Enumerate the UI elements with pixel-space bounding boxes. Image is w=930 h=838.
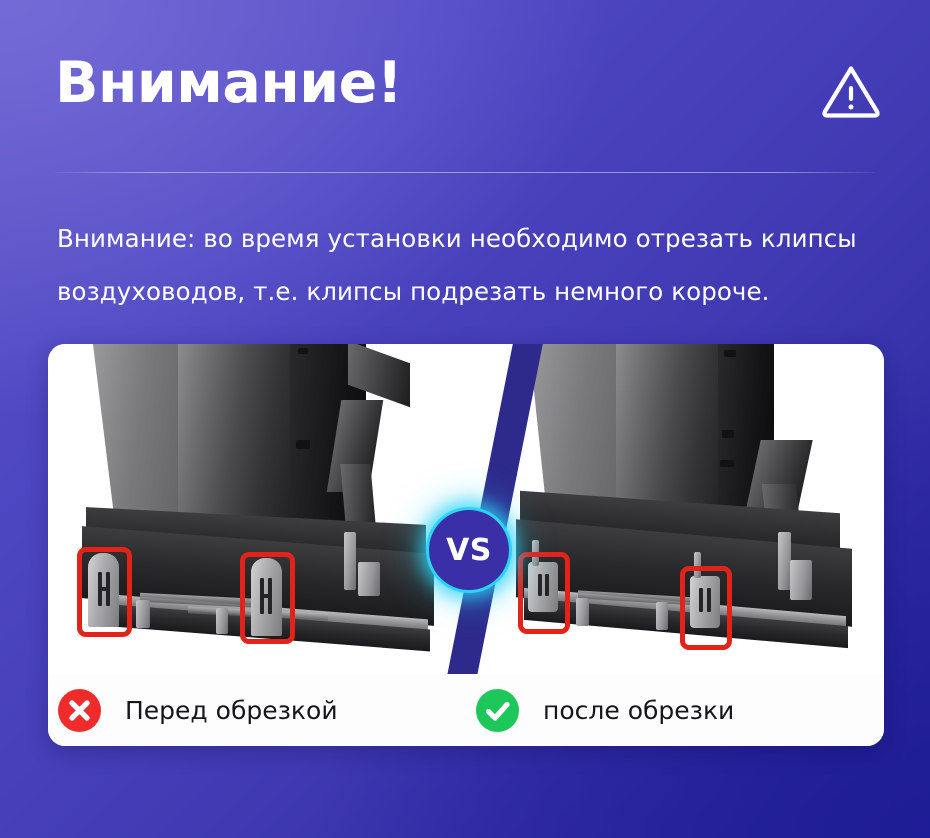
page-title: Внимание! xyxy=(55,55,402,112)
highlight-box-clip-right xyxy=(240,552,295,644)
label-before-trimming: Перед обрезкой xyxy=(48,674,466,746)
label-after-trimming: после обрезки xyxy=(466,674,884,746)
notice-line-2: воздуховодов, т.е. клипсы подрезать немн… xyxy=(57,265,897,318)
notice-text: Внимание: во время установки необходимо … xyxy=(57,212,897,318)
highlight-box-clip-left xyxy=(77,547,132,637)
highlight-box-clip-right-trimmed xyxy=(680,566,732,650)
header-divider xyxy=(55,172,875,173)
promo-banner: Внимание! Внимание: во время установки н… xyxy=(0,0,930,838)
label-before-text: Перед обрезкой xyxy=(125,696,338,725)
check-circle-icon xyxy=(476,689,519,732)
photo-before-trimming xyxy=(48,344,466,674)
cross-circle-icon xyxy=(58,689,101,732)
label-row: Перед обрезкой после обрезки xyxy=(48,674,884,746)
label-after-text: после обрезки xyxy=(543,696,734,725)
vs-label: VS xyxy=(446,533,492,568)
photo-after-trimming xyxy=(466,344,884,674)
highlight-box-clip-left-trimmed xyxy=(518,552,570,634)
warning-triangle-icon xyxy=(820,62,882,120)
notice-line-1: Внимание: во время установки необходимо … xyxy=(57,212,897,265)
vs-badge: VS xyxy=(426,507,512,593)
header: Внимание! xyxy=(0,0,930,172)
comparison-card: VS Перед обрезкой после обрезки xyxy=(48,344,884,746)
